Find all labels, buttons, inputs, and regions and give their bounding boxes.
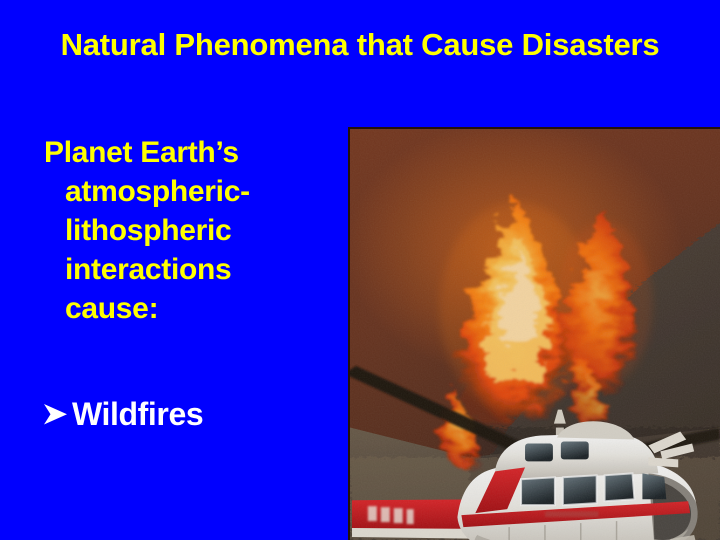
bullet-item-wildfires: Wildfires — [40, 396, 203, 432]
body-line: atmospheric- — [44, 172, 344, 211]
body-line: Planet Earth’s — [44, 133, 344, 172]
wildfire-helicopter-photo — [348, 127, 720, 540]
body-line: interactions — [44, 250, 344, 289]
slide-canvas: Natural Phenomena that Cause Disasters P… — [0, 0, 720, 540]
arrowhead-bullet-icon — [40, 399, 70, 429]
slide-title: Natural Phenomena that Cause Disasters — [36, 26, 684, 64]
body-text-block: Planet Earth’s atmospheric- lithospheric… — [44, 133, 344, 328]
body-line: cause: — [44, 289, 344, 328]
bullet-label: Wildfires — [72, 396, 203, 432]
body-line: lithospheric — [44, 211, 344, 250]
